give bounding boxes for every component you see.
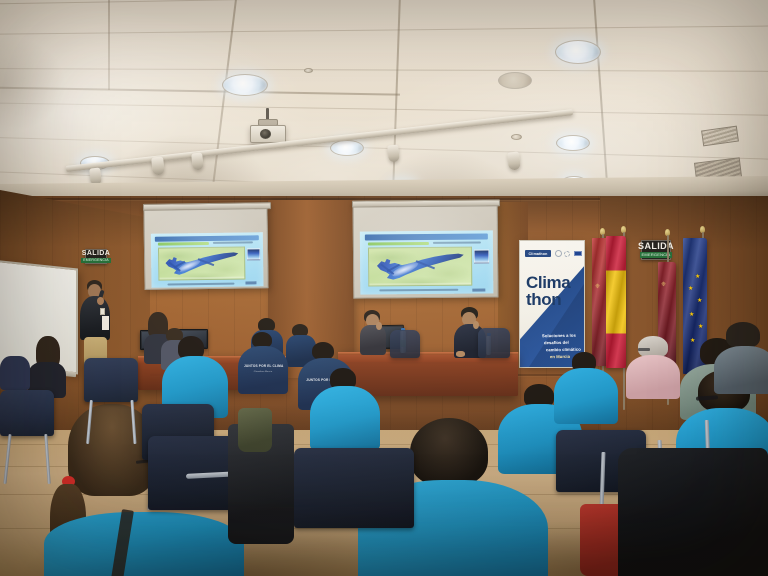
ceiling-downlight <box>556 135 590 151</box>
eu-star-icon: ★ <box>689 312 694 318</box>
audience-top <box>714 346 768 394</box>
shirt-slogan: JUNTOS POR EL CLIMA <box>244 364 282 368</box>
audience-chair[interactable] <box>294 448 414 528</box>
slide-footer-bar <box>379 289 459 292</box>
panelist-left-hand <box>376 322 382 330</box>
track-spotlight <box>387 144 400 162</box>
ceiling-downlight <box>498 72 532 89</box>
presenter-badge <box>100 308 105 315</box>
murcia-crest-icon: ❈ <box>661 282 666 288</box>
jacket-draped <box>618 448 768 576</box>
right-projection-screen <box>353 205 499 298</box>
flag-spain <box>606 236 626 368</box>
banner-subtitle-line4: en Murcia <box>550 354 570 359</box>
slide-map-legend <box>247 248 259 260</box>
climathon-rollup-banner: Climathon Clima thon Soluciones a los de… <box>519 240 585 368</box>
exit-sign-sublabel: EMERGENCIA <box>81 258 111 263</box>
eu-star-icon: ★ <box>697 298 702 304</box>
banner-subtitle-line1: Soluciones a los <box>542 333 576 339</box>
audience-shirt-navy: JUNTOS POR EL CLIMA Climathon Murcia <box>238 346 288 394</box>
slide-subtitle-bar-secondary <box>433 242 481 244</box>
eu-flag-logo-icon <box>574 251 582 256</box>
shirt-sublabel: Climathon Murcia <box>244 371 282 374</box>
left-projection-screen <box>143 208 268 290</box>
eu-star-icon: ★ <box>688 286 693 292</box>
eyeglasses-icon <box>638 348 650 351</box>
slide-title-bar <box>155 235 258 241</box>
panelist-right-hand <box>456 351 465 357</box>
presenter-hand <box>97 297 104 305</box>
banner-title-line2: thon <box>526 292 561 308</box>
eu-star-icon: ★ <box>690 338 695 344</box>
banner-title-line1: Clima <box>526 275 570 291</box>
eu-star-icon: ★ <box>695 274 700 280</box>
climathon-logo-badge: Climathon <box>525 250 551 257</box>
right-slide-content <box>360 230 494 294</box>
slide-footer-bar <box>167 282 234 285</box>
slide-flood-risk-map <box>158 246 246 281</box>
conference-room-photo: SALIDA EMERGENCIA SALIDA EMERGENCIA <box>0 0 768 576</box>
ceiling-downlight <box>222 74 268 96</box>
ceiling-downlight <box>555 40 601 64</box>
slide-footer-logo <box>246 282 257 285</box>
slide-subtitle-bar <box>368 242 429 246</box>
panel-chair[interactable] <box>478 328 510 358</box>
smoke-detector-icon <box>511 134 522 140</box>
audience-shirt-cyan <box>310 386 380 450</box>
banner-subtitle-line2: desafíos del <box>544 340 569 346</box>
audience-chair[interactable] <box>84 358 138 402</box>
exit-sign-left: SALIDA EMERGENCIA <box>85 249 107 264</box>
partner-logo-icon <box>564 251 570 257</box>
presenter-paper <box>102 316 109 330</box>
murcia-crest-icon: ❈ <box>595 284 600 290</box>
panelist-left-top <box>360 325 386 355</box>
slide-subtitle-bar-secondary <box>213 242 253 244</box>
track-spotlight <box>507 151 521 170</box>
eu-star-icon: ★ <box>698 324 703 330</box>
slide-title-bar <box>365 234 487 241</box>
banner-subtitle-line3: cambio climático <box>546 347 581 353</box>
left-slide-content <box>151 232 264 288</box>
ceiling-downlight <box>330 140 364 156</box>
audience-hair <box>410 418 488 486</box>
partner-logo-icon <box>555 250 562 257</box>
backpack-green <box>238 408 272 452</box>
track-spotlight <box>151 156 165 175</box>
panelist-right-hand <box>473 321 479 329</box>
audience-shirt-cyan <box>44 512 244 576</box>
audience-shirt-cyan <box>554 368 618 424</box>
panel-chair[interactable] <box>390 330 420 358</box>
projector-lens-icon <box>260 129 271 139</box>
audience-hair <box>726 322 760 348</box>
exit-sign-label: SALIDA <box>82 250 110 257</box>
slide-map-legend <box>474 249 489 263</box>
slide-footer-logo <box>472 288 485 291</box>
track-spotlight <box>191 152 204 170</box>
slide-subtitle-bar <box>158 242 210 246</box>
smoke-detector-icon <box>304 68 313 73</box>
audience-top-pink <box>626 355 680 399</box>
slide-flood-risk-map <box>368 246 472 286</box>
audience-top <box>0 356 30 390</box>
audience-chair[interactable] <box>0 390 54 436</box>
